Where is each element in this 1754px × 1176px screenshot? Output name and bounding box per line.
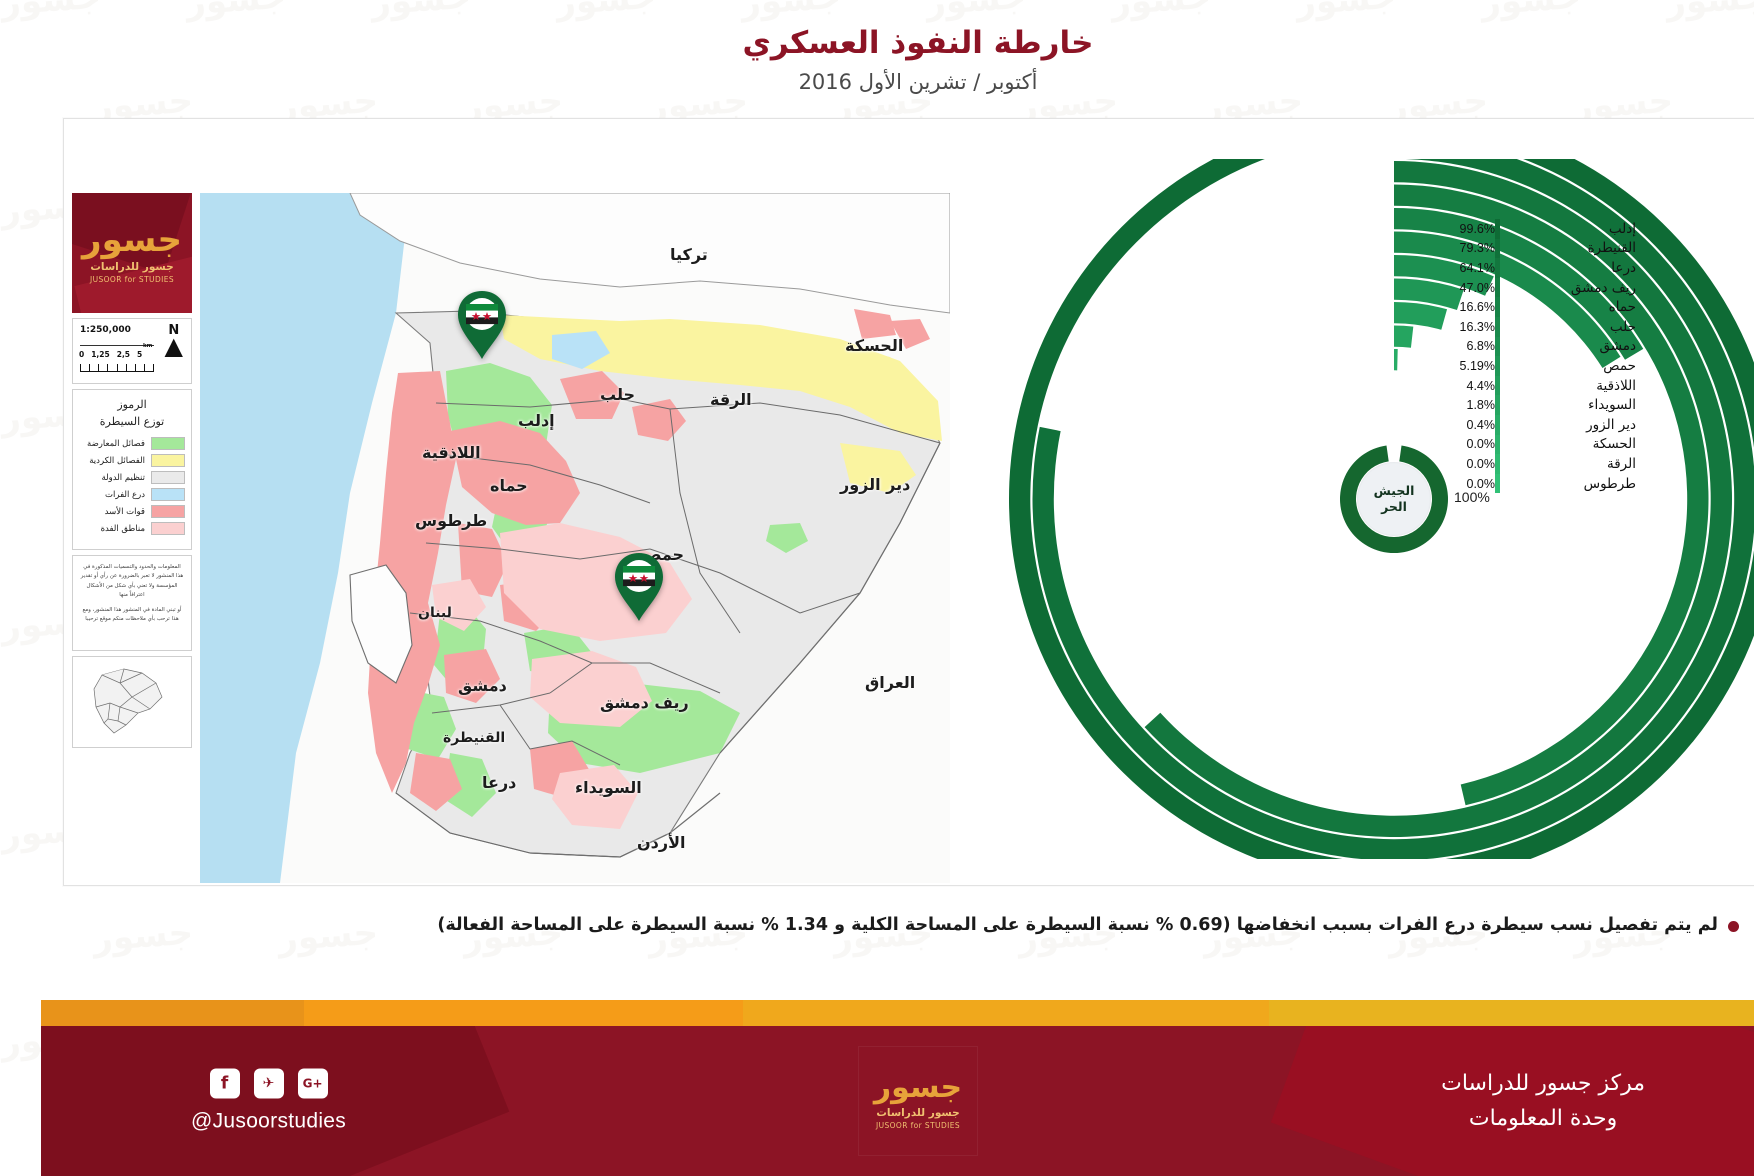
chart-legend-color-bar <box>1454 435 1459 455</box>
chart-legend-row-0[interactable]: إدلب99.6% <box>1404 219 1609 239</box>
center-total-value: 100% <box>1413 489 1449 505</box>
twitter-icon[interactable]: ✈ <box>213 1069 243 1099</box>
legend-item-label: مناطق الفدة <box>38 524 104 534</box>
chart-legend-color-bar <box>1454 239 1459 259</box>
chart-legend-label: حماه <box>1459 299 1609 315</box>
legend-swatch <box>110 454 144 467</box>
scale-tick-label: 5 <box>96 350 101 359</box>
north-arrow-icon: N ▲ <box>124 324 142 356</box>
footer-line-2: وحدة المعلومات <box>1400 1101 1604 1136</box>
scale-unit: km <box>102 343 111 349</box>
chart-legend-color-bar <box>1454 278 1459 298</box>
inset-locator-map <box>31 656 151 748</box>
legend-swatch <box>110 522 144 535</box>
scale-tick-label: 1,25 <box>50 350 69 359</box>
chart-legend-value: 0.0% <box>1404 437 1454 451</box>
legend-item-1[interactable]: الفصائل الكردية <box>38 454 144 467</box>
chart-legend-value: 16.6% <box>1404 300 1454 314</box>
chart-legend-row-10[interactable]: دير الزور0.4% <box>1404 415 1609 435</box>
chart-legend-color-bar <box>1454 376 1459 396</box>
social-links: f✈G+ @Jusoorstudies <box>150 1069 305 1134</box>
legend-item-label: درع الفرات <box>38 490 104 500</box>
disclaimer-paragraph: أو تبني المادة في المنشور هذا المنشور، و… <box>38 606 144 625</box>
chart-legend-row-4[interactable]: حماه16.6% <box>1404 297 1609 317</box>
radial-control-chart[interactable]: إدلب99.6%القنيطرة79.3%درعا64.1%ريف دمشق4… <box>923 159 1749 859</box>
legend-item-3[interactable]: درع الفرات <box>38 488 144 501</box>
footer-brand-logo: جسور جسور للدراسات JUSOOR for STUDIES <box>818 1047 936 1155</box>
brand-mark: جسور <box>41 223 141 257</box>
social-handle: @Jusoorstudies <box>150 1110 305 1134</box>
inset-map-svg <box>39 663 143 741</box>
chart-legend-color-bar <box>1454 356 1459 376</box>
chart-legend-label: حمص <box>1459 358 1609 374</box>
accent-color-band <box>0 1000 1754 1026</box>
chart-legend-row-9[interactable]: السويداء1.8% <box>1404 395 1609 415</box>
chart-legend-label: ريف دمشق <box>1459 280 1609 296</box>
chart-legend-color-bar <box>1454 317 1459 337</box>
legend-swatch <box>110 488 144 501</box>
chart-legend-label: درعا <box>1459 260 1609 276</box>
chart-center-badge: الجيش الحر <box>1316 462 1390 536</box>
legend-swatch <box>110 471 144 484</box>
chart-arc-8[interactable] <box>1353 302 1406 330</box>
legend-item-2[interactable]: تنظيم الدولة <box>38 471 144 484</box>
page-title: خارطة النفوذ العسكري <box>701 24 1052 63</box>
facebook-icon[interactable]: f <box>169 1069 199 1099</box>
chart-arc-10[interactable] <box>1353 349 1357 370</box>
chart-legend-color-bar <box>1454 219 1459 239</box>
chart-legend-color-bar <box>1454 395 1459 415</box>
chart-legend-row-8[interactable]: اللاذقية4.4% <box>1404 376 1609 396</box>
footer-line-1: مركز جسور للدراسات <box>1400 1066 1604 1101</box>
footer-brand-name-en: JUSOOR for STUDIES <box>835 1121 919 1130</box>
chart-legend-value: 4.4% <box>1404 379 1454 393</box>
syria-control-map[interactable]: تركياالحسكةحلبالرقةإدلباللاذقيةحماهدير ا… <box>159 193 909 883</box>
legend-title: الرموز <box>38 398 144 411</box>
chart-legend-label: حلب <box>1459 319 1609 335</box>
chart-arc-9[interactable] <box>1353 326 1372 348</box>
chart-legend: إدلب99.6%القنيطرة79.3%درعا64.1%ريف دمشق4… <box>1404 219 1609 493</box>
page-subtitle: أكتوبر / تشرين الأول 2016 <box>758 70 997 94</box>
google-plus-icon[interactable]: G+ <box>257 1069 287 1099</box>
footnote-text: لم يتم تفصيل نسب سيطرة درع الفرات بسبب ا… <box>396 914 1677 938</box>
chart-legend-color-bar <box>1454 297 1459 317</box>
chart-legend-color-bar <box>1454 415 1459 435</box>
footer-brand-mark: جسور <box>833 1073 921 1103</box>
scale-tick-label: 0 <box>38 350 43 359</box>
band-segment-0 <box>1228 1000 1754 1026</box>
chart-legend-value: 47.0% <box>1404 281 1454 295</box>
scale-tick-label: 2,5 <box>76 350 89 359</box>
brand-name-en: JUSOOR for STUDIES <box>49 275 133 284</box>
disclaimer-paragraph: المعلومات والحدود والتسميات المذكورة في … <box>38 563 144 601</box>
chart-legend-label: دير الزور <box>1459 417 1609 433</box>
map-geometry <box>159 193 909 883</box>
chart-legend-color-bar <box>1454 454 1459 474</box>
chart-legend-label: الحسكة <box>1459 436 1609 452</box>
legend-item-0[interactable]: فصائل المعارضة <box>38 437 144 450</box>
band-segment-3 <box>0 1000 263 1026</box>
chart-legend-value: 99.6% <box>1404 222 1454 236</box>
map-pin-rif-dimashq[interactable] <box>571 551 625 623</box>
chart-legend-value: 64.1% <box>1404 261 1454 275</box>
chart-legend-label: اللاذقية <box>1459 378 1609 394</box>
band-segment-1 <box>702 1000 1228 1026</box>
band-segment-2 <box>263 1000 702 1026</box>
center-label-line2: الحر <box>1340 499 1366 515</box>
chart-legend-row-1[interactable]: القنيطرة79.3% <box>1404 239 1609 259</box>
chart-legend-label: طرطوس <box>1459 476 1609 492</box>
brand-logo: جسور جسور للدراسات JUSOOR for STUDIES <box>31 193 151 313</box>
page-footer: مركز جسور للدراسات وحدة المعلومات جسور ج… <box>0 1026 1754 1176</box>
map-pin-idlib[interactable] <box>414 289 468 361</box>
chart-legend-value: 0.0% <box>1404 457 1454 471</box>
chart-legend-label: الرقة <box>1459 456 1609 472</box>
chart-legend-value: 5.19% <box>1404 359 1454 373</box>
chart-legend-color-bar <box>1454 258 1459 278</box>
chart-legend-color-bar <box>1454 337 1459 357</box>
legend-item-label: قوات الأسد <box>38 507 104 517</box>
chart-legend-value: 0.4% <box>1404 418 1454 432</box>
map-scale-bar: 1:250,000 01,252,55 km N ▲ <box>31 318 151 384</box>
map-legend: الرموز توزع السيطرة فصائل المعارضةالفصائ… <box>31 389 151 550</box>
scale-baseline <box>39 371 113 372</box>
chart-legend-label: إدلب <box>1459 221 1609 237</box>
legend-swatch <box>110 437 144 450</box>
chart-legend-row-6[interactable]: دمشق6.8% <box>1404 337 1609 357</box>
legend-item-4[interactable]: قوات الأسد <box>38 505 144 518</box>
chart-legend-row-3[interactable]: ريف دمشق47.0% <box>1404 278 1609 298</box>
legend-subtitle: توزع السيطرة <box>38 415 144 428</box>
chart-footnote: لم يتم تفصيل نسب سيطرة درع الفرات بسبب ا… <box>22 896 1732 956</box>
chart-legend-value: 79.3% <box>1404 241 1454 255</box>
chart-legend-row-5[interactable]: حلب16.3% <box>1404 317 1609 337</box>
footer-brand-name-ar: جسور للدراسات <box>835 1107 918 1119</box>
footer-org-name: مركز جسور للدراسات وحدة المعلومات <box>1400 1066 1604 1136</box>
chart-legend-value: 6.8% <box>1404 339 1454 353</box>
brand-name-ar: جسور للدراسات <box>49 261 132 273</box>
legend-item-label: الفصائل الكردية <box>38 456 104 466</box>
infographic-board: جسور جسور للدراسات JUSOOR for STUDIES 1:… <box>22 118 1732 886</box>
chart-legend-value: 16.3% <box>1404 320 1454 334</box>
chart-legend-row-12[interactable]: الرقة0.0% <box>1404 454 1609 474</box>
map-disclaimer: المعلومات والحدود والتسميات المذكورة في … <box>31 555 151 651</box>
chart-legend-color-bar <box>1454 474 1459 494</box>
chart-legend-label: دمشق <box>1459 338 1609 354</box>
footnote-bullet-icon <box>1687 921 1698 932</box>
chart-legend-row-2[interactable]: درعا64.1% <box>1404 258 1609 278</box>
scale-tick-labels: 01,252,55 <box>38 350 101 359</box>
legend-item-label: تنظيم الدولة <box>38 473 104 483</box>
page-header: خارطة النفوذ العسكري أكتوبر / تشرين الأو… <box>0 0 1754 118</box>
chart-legend-label: القنيطرة <box>1459 240 1609 256</box>
chart-legend-value: 1.8% <box>1404 398 1454 412</box>
legend-swatch <box>110 505 144 518</box>
chart-legend-row-11[interactable]: الحسكة0.0% <box>1404 435 1609 455</box>
legend-item-label: فصائل المعارضة <box>38 439 104 449</box>
north-glyph: ▲ <box>124 337 142 356</box>
center-label-line1: الجيش <box>1333 483 1374 499</box>
chart-legend-label: السويداء <box>1459 397 1609 413</box>
chart-legend-row-7[interactable]: حمص5.19% <box>1404 356 1609 376</box>
legend-item-5[interactable]: مناطق الفدة <box>38 522 144 535</box>
map-sidebar: جسور جسور للدراسات JUSOOR for STUDIES 1:… <box>31 193 151 748</box>
